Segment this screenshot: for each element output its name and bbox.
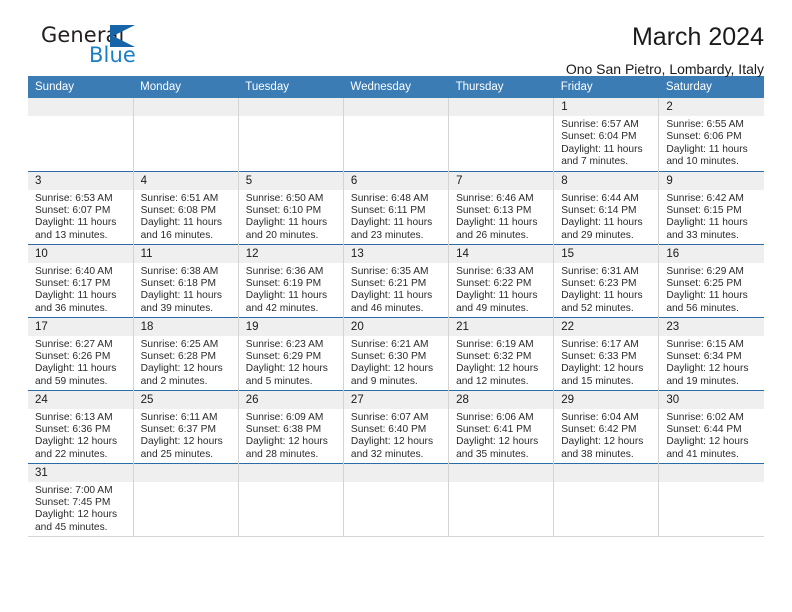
- daylight-minutes-line: and 28 minutes.: [246, 449, 338, 461]
- sunset-line: Sunset: 6:26 PM: [35, 351, 128, 363]
- day-sun-info: Sunrise: 6:48 AMSunset: 6:11 PMDaylight:…: [344, 190, 448, 243]
- day-cell-3[interactable]: 3Sunrise: 6:53 AMSunset: 6:07 PMDaylight…: [28, 171, 133, 244]
- day-number: 7: [449, 172, 553, 190]
- sunset-line: Sunset: 6:21 PM: [351, 278, 443, 290]
- day-number: 21: [449, 318, 553, 336]
- day-cell-18[interactable]: 18Sunrise: 6:25 AMSunset: 6:28 PMDayligh…: [133, 317, 238, 390]
- day-number: [449, 98, 553, 116]
- day-sun-info: Sunrise: 6:25 AMSunset: 6:28 PMDaylight:…: [134, 336, 238, 389]
- sunset-line: Sunset: 6:15 PM: [666, 205, 759, 217]
- day-number: 19: [239, 318, 343, 336]
- daylight-minutes-line: and 49 minutes.: [456, 303, 548, 315]
- sunrise-line: Sunrise: 6:44 AM: [561, 193, 653, 205]
- day-sun-info: Sunrise: 6:38 AMSunset: 6:18 PMDaylight:…: [134, 263, 238, 316]
- day-number: 13: [344, 245, 448, 263]
- sunset-line: Sunset: 6:33 PM: [561, 351, 653, 363]
- daylight-hours-line: Daylight: 12 hours: [246, 436, 338, 448]
- day-number: 15: [554, 245, 658, 263]
- day-number: 25: [134, 391, 238, 409]
- day-cell-13[interactable]: 13Sunrise: 6:35 AMSunset: 6:21 PMDayligh…: [343, 244, 448, 317]
- day-sun-info: Sunrise: 6:09 AMSunset: 6:38 PMDaylight:…: [239, 409, 343, 462]
- day-sun-info: Sunrise: 6:04 AMSunset: 6:42 PMDaylight:…: [554, 409, 658, 462]
- day-sun-info: Sunrise: 6:21 AMSunset: 6:30 PMDaylight:…: [344, 336, 448, 389]
- sunrise-line: Sunrise: 6:09 AM: [246, 412, 338, 424]
- day-cell-15[interactable]: 15Sunrise: 6:31 AMSunset: 6:23 PMDayligh…: [554, 244, 659, 317]
- sunset-line: Sunset: 6:07 PM: [35, 205, 128, 217]
- sunrise-line: Sunrise: 6:51 AM: [141, 193, 233, 205]
- sunset-line: Sunset: 6:40 PM: [351, 424, 443, 436]
- day-cell-23[interactable]: 23Sunrise: 6:15 AMSunset: 6:34 PMDayligh…: [659, 317, 764, 390]
- day-sun-info: Sunrise: 6:42 AMSunset: 6:15 PMDaylight:…: [659, 190, 764, 243]
- day-cell-empty: [449, 463, 554, 536]
- daylight-minutes-line: and 36 minutes.: [35, 303, 128, 315]
- day-cell-21[interactable]: 21Sunrise: 6:19 AMSunset: 6:32 PMDayligh…: [449, 317, 554, 390]
- day-sun-info: [239, 482, 343, 485]
- day-number: 28: [449, 391, 553, 409]
- day-cell-19[interactable]: 19Sunrise: 6:23 AMSunset: 6:29 PMDayligh…: [238, 317, 343, 390]
- day-number: [134, 464, 238, 482]
- day-cell-empty: [343, 463, 448, 536]
- day-sun-info: [134, 116, 238, 119]
- day-cell-2[interactable]: 2Sunrise: 6:55 AMSunset: 6:06 PMDaylight…: [659, 98, 764, 171]
- day-cell-empty: [449, 98, 554, 171]
- daylight-minutes-line: and 13 minutes.: [35, 230, 128, 242]
- day-cell-1[interactable]: 1Sunrise: 6:57 AMSunset: 6:04 PMDaylight…: [554, 98, 659, 171]
- day-cell-31[interactable]: 31Sunrise: 7:00 AMSunset: 7:45 PMDayligh…: [28, 463, 133, 536]
- page-title: March 2024: [566, 22, 764, 52]
- sunrise-line: Sunrise: 6:15 AM: [666, 339, 759, 351]
- daylight-hours-line: Daylight: 11 hours: [666, 290, 759, 302]
- daylight-minutes-line: and 56 minutes.: [666, 303, 759, 315]
- day-cell-30[interactable]: 30Sunrise: 6:02 AMSunset: 6:44 PMDayligh…: [659, 390, 764, 463]
- day-cell-17[interactable]: 17Sunrise: 6:27 AMSunset: 6:26 PMDayligh…: [28, 317, 133, 390]
- daylight-minutes-line: and 46 minutes.: [351, 303, 443, 315]
- day-sun-info: Sunrise: 6:11 AMSunset: 6:37 PMDaylight:…: [134, 409, 238, 462]
- sunset-line: Sunset: 6:41 PM: [456, 424, 548, 436]
- day-cell-empty: [28, 98, 133, 171]
- day-cell-24[interactable]: 24Sunrise: 6:13 AMSunset: 6:36 PMDayligh…: [28, 390, 133, 463]
- day-cell-empty: [238, 463, 343, 536]
- sunset-line: Sunset: 6:08 PM: [141, 205, 233, 217]
- day-sun-info: Sunrise: 6:53 AMSunset: 6:07 PMDaylight:…: [28, 190, 133, 243]
- day-cell-12[interactable]: 12Sunrise: 6:36 AMSunset: 6:19 PMDayligh…: [238, 244, 343, 317]
- day-sun-info: Sunrise: 6:07 AMSunset: 6:40 PMDaylight:…: [344, 409, 448, 462]
- day-sun-info: Sunrise: 6:35 AMSunset: 6:21 PMDaylight:…: [344, 263, 448, 316]
- daylight-minutes-line: and 5 minutes.: [246, 376, 338, 388]
- daylight-hours-line: Daylight: 12 hours: [666, 436, 759, 448]
- daylight-hours-line: Daylight: 11 hours: [246, 217, 338, 229]
- day-sun-info: Sunrise: 6:33 AMSunset: 6:22 PMDaylight:…: [449, 263, 553, 316]
- day-sun-info: Sunrise: 6:23 AMSunset: 6:29 PMDaylight:…: [239, 336, 343, 389]
- calendar-week-row: 10Sunrise: 6:40 AMSunset: 6:17 PMDayligh…: [28, 244, 764, 317]
- day-number: 5: [239, 172, 343, 190]
- sunset-line: Sunset: 6:06 PM: [666, 131, 759, 143]
- calendar-week-row: 24Sunrise: 6:13 AMSunset: 6:36 PMDayligh…: [28, 390, 764, 463]
- sunset-line: Sunset: 6:04 PM: [561, 131, 653, 143]
- day-cell-8[interactable]: 8Sunrise: 6:44 AMSunset: 6:14 PMDaylight…: [554, 171, 659, 244]
- day-cell-empty: [659, 463, 764, 536]
- day-number: [344, 464, 448, 482]
- logo-text-blue: Blue: [89, 43, 136, 67]
- daylight-hours-line: Daylight: 12 hours: [35, 436, 128, 448]
- day-cell-28[interactable]: 28Sunrise: 6:06 AMSunset: 6:41 PMDayligh…: [449, 390, 554, 463]
- daylight-hours-line: Daylight: 11 hours: [666, 144, 759, 156]
- calendar-table: SundayMondayTuesdayWednesdayThursdayFrid…: [28, 76, 764, 537]
- daylight-minutes-line: and 20 minutes.: [246, 230, 338, 242]
- day-sun-info: Sunrise: 6:57 AMSunset: 6:04 PMDaylight:…: [554, 116, 658, 169]
- daylight-hours-line: Daylight: 11 hours: [561, 290, 653, 302]
- sunset-line: Sunset: 6:11 PM: [351, 205, 443, 217]
- day-sun-info: [28, 116, 133, 119]
- sunrise-line: Sunrise: 6:04 AM: [561, 412, 653, 424]
- day-sun-info: Sunrise: 6:31 AMSunset: 6:23 PMDaylight:…: [554, 263, 658, 316]
- calendar-week-row: 1Sunrise: 6:57 AMSunset: 6:04 PMDaylight…: [28, 98, 764, 171]
- daylight-minutes-line: and 19 minutes.: [666, 376, 759, 388]
- daylight-hours-line: Daylight: 11 hours: [246, 290, 338, 302]
- day-number: 11: [134, 245, 238, 263]
- daylight-hours-line: Daylight: 11 hours: [141, 290, 233, 302]
- sunrise-line: Sunrise: 6:53 AM: [35, 193, 128, 205]
- day-cell-empty: [343, 98, 448, 171]
- day-number: [239, 464, 343, 482]
- sunset-line: Sunset: 6:17 PM: [35, 278, 128, 290]
- sunrise-line: Sunrise: 6:07 AM: [351, 412, 443, 424]
- sunrise-line: Sunrise: 6:02 AM: [666, 412, 759, 424]
- page-subtitle: Ono San Pietro, Lombardy, Italy: [566, 59, 764, 79]
- page-header: General Blue March 2024 Ono San Pietro, …: [28, 0, 764, 72]
- day-number: 10: [28, 245, 133, 263]
- day-cell-27[interactable]: 27Sunrise: 6:07 AMSunset: 6:40 PMDayligh…: [343, 390, 448, 463]
- day-sun-info: [449, 116, 553, 119]
- day-cell-10[interactable]: 10Sunrise: 6:40 AMSunset: 6:17 PMDayligh…: [28, 244, 133, 317]
- weekday-header-tuesday: Tuesday: [238, 76, 343, 98]
- sunset-line: Sunset: 6:37 PM: [141, 424, 233, 436]
- sunset-line: Sunset: 6:10 PM: [246, 205, 338, 217]
- daylight-minutes-line: and 16 minutes.: [141, 230, 233, 242]
- daylight-minutes-line: and 23 minutes.: [351, 230, 443, 242]
- day-cell-empty: [238, 98, 343, 171]
- day-number: [449, 464, 553, 482]
- daylight-minutes-line: and 7 minutes.: [561, 156, 653, 168]
- weekday-header-wednesday: Wednesday: [343, 76, 448, 98]
- day-cell-empty: [133, 98, 238, 171]
- general-blue-logo[interactable]: General Blue: [28, 22, 178, 70]
- day-sun-info: Sunrise: 6:13 AMSunset: 6:36 PMDaylight:…: [28, 409, 133, 462]
- day-number: 4: [134, 172, 238, 190]
- day-number: 3: [28, 172, 133, 190]
- day-number: 16: [659, 245, 764, 263]
- day-cell-9[interactable]: 9Sunrise: 6:42 AMSunset: 6:15 PMDaylight…: [659, 171, 764, 244]
- daylight-hours-line: Daylight: 12 hours: [35, 509, 128, 521]
- day-number: 6: [344, 172, 448, 190]
- sunrise-line: Sunrise: 6:33 AM: [456, 266, 548, 278]
- sunset-line: Sunset: 6:34 PM: [666, 351, 759, 363]
- daylight-minutes-line: and 38 minutes.: [561, 449, 653, 461]
- daylight-hours-line: Daylight: 11 hours: [35, 363, 128, 375]
- calendar-page: General Blue March 2024 Ono San Pietro, …: [0, 0, 792, 612]
- day-cell-empty: [554, 463, 659, 536]
- daylight-hours-line: Daylight: 11 hours: [35, 217, 128, 229]
- daylight-hours-line: Daylight: 11 hours: [456, 217, 548, 229]
- day-sun-info: Sunrise: 6:50 AMSunset: 6:10 PMDaylight:…: [239, 190, 343, 243]
- sunrise-line: Sunrise: 6:21 AM: [351, 339, 443, 351]
- daylight-minutes-line: and 9 minutes.: [351, 376, 443, 388]
- sunset-line: Sunset: 6:22 PM: [456, 278, 548, 290]
- day-number: [134, 98, 238, 116]
- day-number: 14: [449, 245, 553, 263]
- day-number: 31: [28, 464, 133, 482]
- daylight-hours-line: Daylight: 12 hours: [351, 436, 443, 448]
- sunrise-line: Sunrise: 6:38 AM: [141, 266, 233, 278]
- sunset-line: Sunset: 6:13 PM: [456, 205, 548, 217]
- sunrise-line: Sunrise: 6:46 AM: [456, 193, 548, 205]
- sunset-line: Sunset: 6:14 PM: [561, 205, 653, 217]
- sunrise-line: Sunrise: 7:00 AM: [35, 485, 128, 497]
- day-number: 2: [659, 98, 764, 116]
- day-cell-16[interactable]: 16Sunrise: 6:29 AMSunset: 6:25 PMDayligh…: [659, 244, 764, 317]
- day-cell-7[interactable]: 7Sunrise: 6:46 AMSunset: 6:13 PMDaylight…: [449, 171, 554, 244]
- daylight-minutes-line: and 10 minutes.: [666, 156, 759, 168]
- daylight-minutes-line: and 35 minutes.: [456, 449, 548, 461]
- title-block: March 2024 Ono San Pietro, Lombardy, Ita…: [566, 22, 764, 79]
- sunrise-line: Sunrise: 6:55 AM: [666, 119, 759, 131]
- sunrise-line: Sunrise: 6:48 AM: [351, 193, 443, 205]
- sunrise-line: Sunrise: 6:57 AM: [561, 119, 653, 131]
- daylight-hours-line: Daylight: 12 hours: [561, 363, 653, 375]
- weekday-header-sunday: Sunday: [28, 76, 133, 98]
- day-number: 1: [554, 98, 658, 116]
- day-cell-5[interactable]: 5Sunrise: 6:50 AMSunset: 6:10 PMDaylight…: [238, 171, 343, 244]
- day-cell-26[interactable]: 26Sunrise: 6:09 AMSunset: 6:38 PMDayligh…: [238, 390, 343, 463]
- day-sun-info: Sunrise: 6:17 AMSunset: 6:33 PMDaylight:…: [554, 336, 658, 389]
- sunset-line: Sunset: 6:28 PM: [141, 351, 233, 363]
- day-sun-info: Sunrise: 6:06 AMSunset: 6:41 PMDaylight:…: [449, 409, 553, 462]
- calendar-week-row: 17Sunrise: 6:27 AMSunset: 6:26 PMDayligh…: [28, 317, 764, 390]
- sunrise-line: Sunrise: 6:31 AM: [561, 266, 653, 278]
- day-sun-info: Sunrise: 6:02 AMSunset: 6:44 PMDaylight:…: [659, 409, 764, 462]
- sunset-line: Sunset: 6:30 PM: [351, 351, 443, 363]
- sunrise-line: Sunrise: 6:25 AM: [141, 339, 233, 351]
- day-sun-info: Sunrise: 6:29 AMSunset: 6:25 PMDaylight:…: [659, 263, 764, 316]
- daylight-hours-line: Daylight: 11 hours: [561, 144, 653, 156]
- calendar-week-row: 3Sunrise: 6:53 AMSunset: 6:07 PMDaylight…: [28, 171, 764, 244]
- daylight-hours-line: Daylight: 12 hours: [351, 363, 443, 375]
- day-cell-11[interactable]: 11Sunrise: 6:38 AMSunset: 6:18 PMDayligh…: [133, 244, 238, 317]
- daylight-hours-line: Daylight: 12 hours: [456, 436, 548, 448]
- daylight-minutes-line: and 25 minutes.: [141, 449, 233, 461]
- sunrise-line: Sunrise: 6:23 AM: [246, 339, 338, 351]
- daylight-hours-line: Daylight: 12 hours: [456, 363, 548, 375]
- day-number: 22: [554, 318, 658, 336]
- daylight-minutes-line: and 15 minutes.: [561, 376, 653, 388]
- day-sun-info: Sunrise: 7:00 AMSunset: 7:45 PMDaylight:…: [28, 482, 133, 535]
- day-sun-info: [659, 482, 764, 485]
- day-cell-20[interactable]: 20Sunrise: 6:21 AMSunset: 6:30 PMDayligh…: [343, 317, 448, 390]
- daylight-hours-line: Daylight: 11 hours: [351, 217, 443, 229]
- daylight-hours-line: Daylight: 11 hours: [35, 290, 128, 302]
- daylight-minutes-line: and 22 minutes.: [35, 449, 128, 461]
- daylight-minutes-line: and 32 minutes.: [351, 449, 443, 461]
- sunrise-line: Sunrise: 6:29 AM: [666, 266, 759, 278]
- daylight-hours-line: Daylight: 11 hours: [456, 290, 548, 302]
- day-cell-6[interactable]: 6Sunrise: 6:48 AMSunset: 6:11 PMDaylight…: [343, 171, 448, 244]
- day-cell-empty: [133, 463, 238, 536]
- daylight-hours-line: Daylight: 11 hours: [561, 217, 653, 229]
- day-number: 24: [28, 391, 133, 409]
- day-sun-info: Sunrise: 6:15 AMSunset: 6:34 PMDaylight:…: [659, 336, 764, 389]
- sunset-line: Sunset: 6:38 PM: [246, 424, 338, 436]
- sunrise-line: Sunrise: 6:50 AM: [246, 193, 338, 205]
- sunset-line: Sunset: 6:18 PM: [141, 278, 233, 290]
- sunrise-line: Sunrise: 6:13 AM: [35, 412, 128, 424]
- day-number: 20: [344, 318, 448, 336]
- sunset-line: Sunset: 6:19 PM: [246, 278, 338, 290]
- daylight-minutes-line: and 12 minutes.: [456, 376, 548, 388]
- day-sun-info: Sunrise: 6:27 AMSunset: 6:26 PMDaylight:…: [28, 336, 133, 389]
- day-sun-info: [449, 482, 553, 485]
- daylight-hours-line: Daylight: 12 hours: [141, 436, 233, 448]
- sunset-line: Sunset: 6:36 PM: [35, 424, 128, 436]
- daylight-minutes-line: and 59 minutes.: [35, 376, 128, 388]
- day-cell-25[interactable]: 25Sunrise: 6:11 AMSunset: 6:37 PMDayligh…: [133, 390, 238, 463]
- day-number: [28, 98, 133, 116]
- day-number: [659, 464, 764, 482]
- daylight-minutes-line: and 42 minutes.: [246, 303, 338, 315]
- sunset-line: Sunset: 7:45 PM: [35, 497, 128, 509]
- day-number: [239, 98, 343, 116]
- day-sun-info: [134, 482, 238, 485]
- day-sun-info: [344, 116, 448, 119]
- day-number: 29: [554, 391, 658, 409]
- sunrise-line: Sunrise: 6:40 AM: [35, 266, 128, 278]
- daylight-minutes-line: and 39 minutes.: [141, 303, 233, 315]
- day-sun-info: [239, 116, 343, 119]
- daylight-hours-line: Daylight: 12 hours: [246, 363, 338, 375]
- day-number: 23: [659, 318, 764, 336]
- daylight-minutes-line: and 26 minutes.: [456, 230, 548, 242]
- sunrise-line: Sunrise: 6:35 AM: [351, 266, 443, 278]
- day-number: 17: [28, 318, 133, 336]
- day-cell-14[interactable]: 14Sunrise: 6:33 AMSunset: 6:22 PMDayligh…: [449, 244, 554, 317]
- daylight-hours-line: Daylight: 12 hours: [666, 363, 759, 375]
- day-sun-info: Sunrise: 6:51 AMSunset: 6:08 PMDaylight:…: [134, 190, 238, 243]
- sunrise-line: Sunrise: 6:17 AM: [561, 339, 653, 351]
- sunset-line: Sunset: 6:42 PM: [561, 424, 653, 436]
- weekday-header-monday: Monday: [133, 76, 238, 98]
- daylight-minutes-line: and 52 minutes.: [561, 303, 653, 315]
- sunrise-line: Sunrise: 6:42 AM: [666, 193, 759, 205]
- sunset-line: Sunset: 6:25 PM: [666, 278, 759, 290]
- day-sun-info: Sunrise: 6:40 AMSunset: 6:17 PMDaylight:…: [28, 263, 133, 316]
- sunrise-line: Sunrise: 6:36 AM: [246, 266, 338, 278]
- sunrise-line: Sunrise: 6:11 AM: [141, 412, 233, 424]
- day-number: 18: [134, 318, 238, 336]
- day-number: 8: [554, 172, 658, 190]
- sunrise-line: Sunrise: 6:27 AM: [35, 339, 128, 351]
- daylight-hours-line: Daylight: 12 hours: [141, 363, 233, 375]
- calendar-header-row: SundayMondayTuesdayWednesdayThursdayFrid…: [28, 76, 764, 98]
- day-sun-info: Sunrise: 6:44 AMSunset: 6:14 PMDaylight:…: [554, 190, 658, 243]
- sunset-line: Sunset: 6:32 PM: [456, 351, 548, 363]
- calendar-body: 1Sunrise: 6:57 AMSunset: 6:04 PMDaylight…: [28, 98, 764, 536]
- sunset-line: Sunset: 6:29 PM: [246, 351, 338, 363]
- daylight-hours-line: Daylight: 11 hours: [351, 290, 443, 302]
- day-number: 30: [659, 391, 764, 409]
- sunrise-line: Sunrise: 6:19 AM: [456, 339, 548, 351]
- day-cell-29[interactable]: 29Sunrise: 6:04 AMSunset: 6:42 PMDayligh…: [554, 390, 659, 463]
- weekday-header-friday: Friday: [554, 76, 659, 98]
- day-sun-info: Sunrise: 6:19 AMSunset: 6:32 PMDaylight:…: [449, 336, 553, 389]
- daylight-minutes-line: and 29 minutes.: [561, 230, 653, 242]
- sunset-line: Sunset: 6:23 PM: [561, 278, 653, 290]
- sunrise-line: Sunrise: 6:06 AM: [456, 412, 548, 424]
- day-sun-info: Sunrise: 6:36 AMSunset: 6:19 PMDaylight:…: [239, 263, 343, 316]
- day-number: [554, 464, 658, 482]
- sunset-line: Sunset: 6:44 PM: [666, 424, 759, 436]
- daylight-hours-line: Daylight: 11 hours: [141, 217, 233, 229]
- day-cell-22[interactable]: 22Sunrise: 6:17 AMSunset: 6:33 PMDayligh…: [554, 317, 659, 390]
- day-number: 26: [239, 391, 343, 409]
- daylight-hours-line: Daylight: 12 hours: [561, 436, 653, 448]
- daylight-minutes-line: and 2 minutes.: [141, 376, 233, 388]
- daylight-minutes-line: and 41 minutes.: [666, 449, 759, 461]
- day-number: 12: [239, 245, 343, 263]
- weekday-header-saturday: Saturday: [659, 76, 764, 98]
- day-cell-4[interactable]: 4Sunrise: 6:51 AMSunset: 6:08 PMDaylight…: [133, 171, 238, 244]
- daylight-hours-line: Daylight: 11 hours: [666, 217, 759, 229]
- day-sun-info: [344, 482, 448, 485]
- day-sun-info: Sunrise: 6:55 AMSunset: 6:06 PMDaylight:…: [659, 116, 764, 169]
- day-number: 9: [659, 172, 764, 190]
- day-sun-info: Sunrise: 6:46 AMSunset: 6:13 PMDaylight:…: [449, 190, 553, 243]
- day-number: [344, 98, 448, 116]
- day-number: 27: [344, 391, 448, 409]
- day-sun-info: [554, 482, 658, 485]
- calendar-week-row: 31Sunrise: 7:00 AMSunset: 7:45 PMDayligh…: [28, 463, 764, 536]
- daylight-minutes-line: and 33 minutes.: [666, 230, 759, 242]
- weekday-header-thursday: Thursday: [449, 76, 554, 98]
- daylight-minutes-line: and 45 minutes.: [35, 522, 128, 534]
